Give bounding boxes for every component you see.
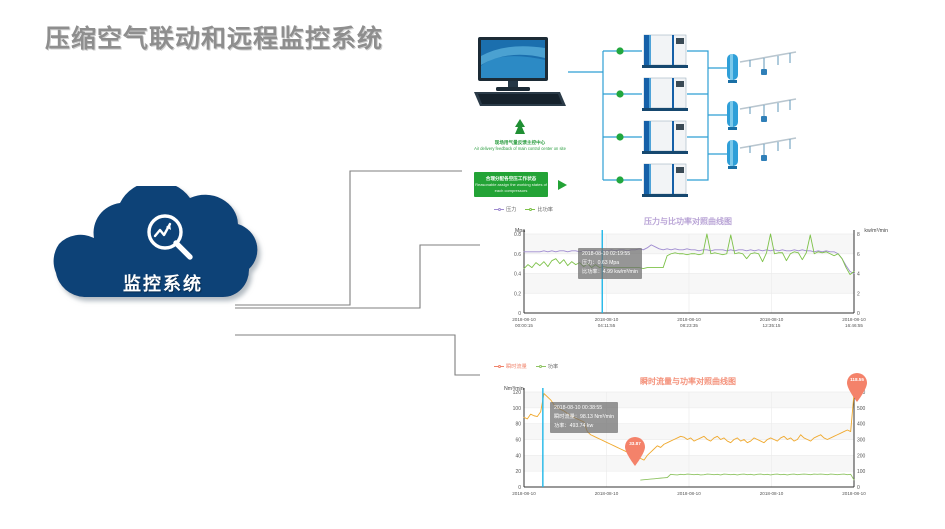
- marker-label: 118.55: [846, 377, 868, 382]
- tooltip-line2: 功率：493.74 kw: [554, 422, 614, 431]
- compressor-unit: [642, 162, 688, 198]
- svg-text:2018-08-10: 2018-08-10: [760, 491, 784, 496]
- svg-text:120: 120: [513, 390, 522, 396]
- svg-text:2018-08-10: 2018-08-10: [842, 317, 866, 322]
- right-arrow-icon: [558, 180, 567, 190]
- svg-text:16:46:55: 16:46:55: [845, 323, 863, 328]
- svg-text:2018-08-10: 2018-08-10: [512, 491, 536, 496]
- svg-text:300: 300: [857, 438, 866, 444]
- chart2-marker-high[interactable]: 118.55: [846, 372, 868, 402]
- chart2-tooltip: 2018-08-10 00:38:55 瞬时流量：98.13 Nm³/min 功…: [550, 402, 618, 433]
- svg-text:04:11:55: 04:11:55: [598, 323, 616, 328]
- tooltip-time: 2018-08-10 00:38:55: [554, 404, 614, 413]
- marker-label: 33.87: [624, 441, 646, 446]
- svg-text:2018-08-10: 2018-08-10: [677, 317, 701, 322]
- pressure-power-chart: 压力 比功率 压力与比功率对照曲线图 Mpa kw/m³/min 00.20.4…: [488, 204, 888, 339]
- page-title: 压缩空气联动和远程监控系统: [45, 19, 383, 55]
- working-status-callout: 合理分配各空压工作状态 Reasonable assign the workin…: [474, 172, 548, 197]
- air-tank-and-dropline: [726, 97, 806, 139]
- magnifier-chart-icon: [142, 210, 198, 266]
- slide-canvas: 压缩空气联动和远程监控系统 监控系统: [0, 0, 945, 529]
- tooltip-line1: 压力：0.63 Mpa: [582, 259, 638, 268]
- svg-text:400: 400: [857, 422, 866, 428]
- air-tank-and-dropline: [726, 50, 806, 92]
- chart1-plot[interactable]: 00.20.40.60.8024682018-08-1000:00:152018…: [488, 204, 888, 339]
- tooltip-line1: 瞬时流量：98.13 Nm³/min: [554, 413, 614, 422]
- svg-text:2018-08-10: 2018-08-10: [595, 491, 619, 496]
- air-tank-and-dropline: [726, 136, 806, 178]
- compressor-unit: [642, 119, 688, 155]
- svg-text:2018-08-10: 2018-08-10: [512, 317, 536, 322]
- cloud-label: 监控系统: [32, 270, 294, 296]
- svg-text:2018-08-10: 2018-08-10: [595, 317, 619, 322]
- svg-text:8: 8: [857, 232, 860, 238]
- svg-text:2018-08-10: 2018-08-10: [760, 317, 784, 322]
- monitoring-system-cloud[interactable]: 监控系统: [32, 186, 294, 328]
- svg-text:08:23:35: 08:23:35: [680, 323, 698, 328]
- green-box-en: Reasonable assign the working states of …: [474, 182, 548, 193]
- tooltip-line2: 比功率：4.99 kw/m³/min: [582, 268, 638, 277]
- control-center-label-en: Air delivery feedback of main control ce…: [450, 146, 590, 152]
- chart2-marker-low[interactable]: 33.87: [624, 436, 646, 466]
- svg-text:0.6: 0.6: [514, 252, 521, 258]
- chart2-plot[interactable]: 02040608010012001002003004005006002018-0…: [488, 360, 888, 529]
- svg-text:80: 80: [515, 422, 521, 428]
- flow-power-chart: 瞬时流量 功率 瞬时流量与功率对照曲线图 Nm³/min 02040608010…: [488, 360, 888, 529]
- tooltip-time: 2018-08-10 02:19:55: [582, 250, 638, 259]
- svg-text:0.4: 0.4: [514, 272, 521, 278]
- svg-text:500: 500: [857, 406, 866, 412]
- svg-text:0.2: 0.2: [514, 291, 521, 297]
- svg-text:6: 6: [857, 252, 860, 258]
- svg-text:0.8: 0.8: [514, 232, 521, 238]
- compressor-unit: [642, 76, 688, 112]
- svg-text:00:00:15: 00:00:15: [515, 323, 533, 328]
- svg-text:100: 100: [857, 469, 866, 475]
- svg-text:200: 200: [857, 453, 866, 459]
- svg-text:60: 60: [515, 438, 521, 444]
- svg-text:2: 2: [857, 291, 860, 297]
- system-topology-diagram: 现场用气量反馈主控中心 Air delivery feedback of mai…: [440, 22, 940, 202]
- svg-text:12:35:15: 12:35:15: [763, 323, 781, 328]
- svg-text:40: 40: [515, 453, 521, 459]
- compressor-unit: [642, 33, 688, 69]
- svg-text:100: 100: [513, 406, 522, 412]
- up-arrow-icon: [514, 118, 526, 136]
- svg-text:20: 20: [515, 469, 521, 475]
- svg-text:4: 4: [857, 272, 860, 278]
- svg-text:2018-08-10: 2018-08-10: [842, 491, 866, 496]
- svg-text:2018-08-10: 2018-08-10: [677, 491, 701, 496]
- chart1-tooltip: 2018-08-10 02:19:55 压力：0.63 Mpa 比功率：4.99…: [578, 248, 642, 279]
- computer-monitor-icon: [472, 36, 568, 108]
